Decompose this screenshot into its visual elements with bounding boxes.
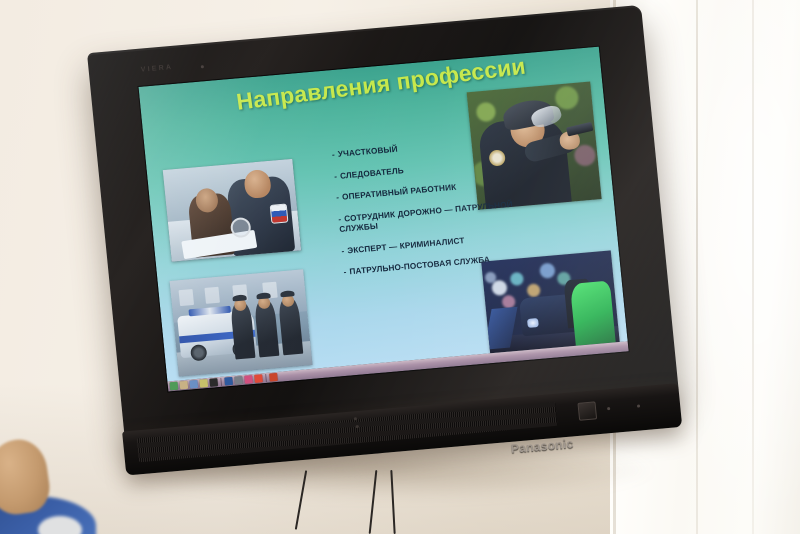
presentation-slide: Направления профессии [139,47,628,382]
door-frame-edge [752,0,754,534]
bullet-text: СЛЕДОВАТЕЛЬ [340,166,405,181]
bullet-text: ЭКСПЕРТ — КРИМИНАЛИСТ [347,236,465,255]
cursor-icon[interactable] [209,378,218,387]
photo-police-car-and-officers [170,269,313,376]
photo-officers-document-examination [163,159,301,262]
status-led [637,404,640,407]
door-frame-edge [696,0,698,534]
taskbar-separator [220,378,222,386]
bullet-text: УЧАСТКОВЫЙ [338,145,399,159]
person-foreground-bottom-left [0,432,106,534]
media-icon[interactable] [199,379,208,388]
app-icon-pink[interactable] [244,375,253,384]
bullet-text: СОТРУДНИК ДОРОЖНО — ПАТРУЛЬНОЙ СЛУЖБЫ [339,199,513,234]
taskbar-separator [265,374,267,382]
power-button[interactable] [577,401,597,420]
app-icon-blue[interactable] [224,377,233,386]
bullet-text: ПАТРУЛЬНО-ПОСТОВАЯ СЛУЖБА [349,255,490,276]
powerpoint-icon[interactable] [269,373,278,382]
yandex-browser-icon[interactable] [254,374,263,383]
app-icon-grey[interactable] [234,376,243,385]
window-icon[interactable] [189,380,198,389]
explorer-icon[interactable] [169,382,178,391]
room-scene: Направления профессии [0,0,800,534]
bullet-text: ОПЕРАТИВНЫЙ РАБОТНИК [342,183,457,202]
list-item: -СОТРУДНИК ДОРОЖНО — ПАТРУЛЬНОЙ СЛУЖБЫ [338,196,549,235]
slide-bullet-list: -УЧАСТКОВЫЙ -СЛЕДОВАТЕЛЬ -ОПЕРАТИВНЫЙ РА… [292,132,555,293]
status-led [607,407,610,410]
tv-screen: Направления профессии [139,47,629,392]
television: Направления профессии [87,5,685,503]
folder-icon[interactable] [179,381,188,390]
